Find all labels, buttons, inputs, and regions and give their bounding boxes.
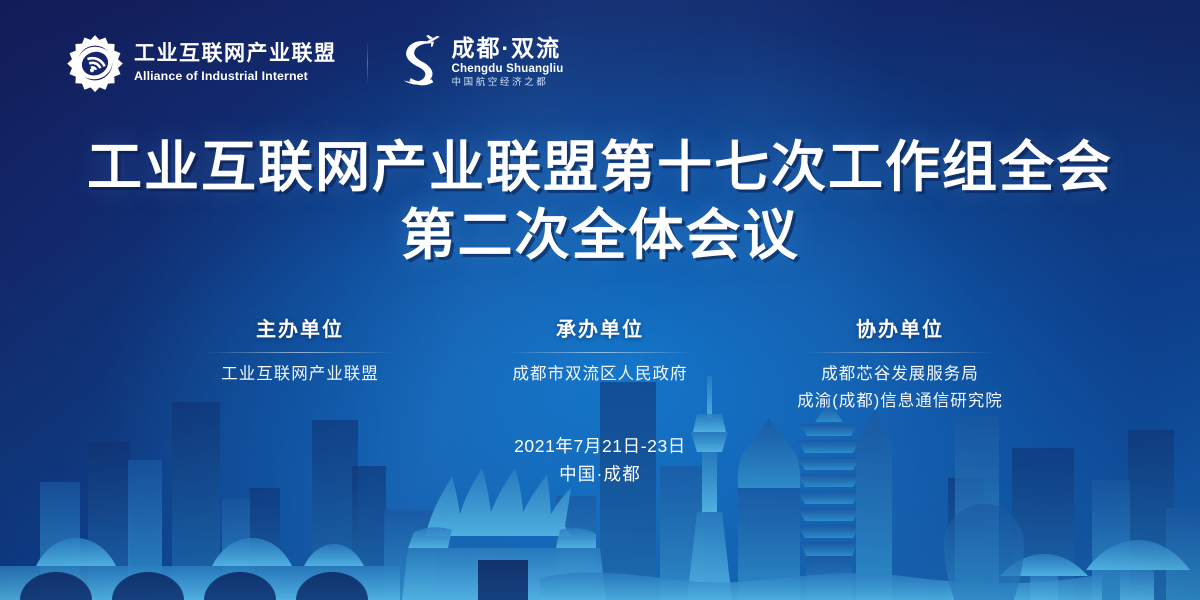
conference-banner: 工业互联网产业联盟 Alliance of Industrial Interne… [0, 0, 1200, 600]
organizer-name: 工业互联网产业联盟 [150, 361, 450, 388]
organizer-name: 成都芯谷发展服务局 [750, 361, 1050, 388]
event-title-line-1: 工业互联网产业联盟第十七次工作组全会 [0, 133, 1200, 201]
organizers-section: 主办单位 工业互联网产业联盟 承办单位 成都市双流区人民政府 协办单位 成都芯谷… [0, 318, 1200, 414]
organizer-divider [807, 352, 993, 353]
organizer-divider [507, 352, 693, 353]
event-title-line-2: 第二次全体会议 [0, 201, 1200, 269]
event-datetime-block: 2021年7月21日-23日 中国·成都 [0, 432, 1200, 489]
shuangliu-logo-name-en: Chengdu Shuangliu [452, 62, 564, 77]
organizer-column-coorganizer: 协办单位 成都芯谷发展服务局 成渝(成都)信息通信研究院 [750, 318, 1050, 414]
alliance-logo: 工业互联网产业联盟 Alliance of Industrial Interne… [66, 34, 337, 92]
organizer-column-undertaker: 承办单位 成都市双流区人民政府 [450, 318, 750, 414]
event-date: 2021年7月21日-23日 [0, 432, 1200, 460]
logo-bar: 工业互联网产业联盟 Alliance of Industrial Interne… [66, 34, 564, 92]
alliance-logo-name-en: Alliance of Industrial Internet [134, 69, 337, 84]
organizer-divider [207, 352, 393, 353]
tree-cluster-silhouette [944, 494, 1200, 600]
organizer-role-label: 协办单位 [750, 318, 1050, 343]
organizer-role-label: 承办单位 [450, 318, 750, 343]
shuangliu-logo-tagline: 中国航空经济之都 [452, 76, 564, 89]
event-title: 工业互联网产业联盟第十七次工作组全会 第二次全体会议 [0, 133, 1200, 269]
event-place: 中国·成都 [0, 460, 1200, 488]
logo-separator [367, 41, 368, 85]
organizer-name: 成都市双流区人民政府 [450, 361, 750, 388]
foreground-wave [540, 572, 1102, 600]
gear-wifi-logo-icon [66, 34, 124, 92]
pavilion-silhouette [1000, 540, 1190, 600]
alliance-logo-name-cn: 工业互联网产业联盟 [134, 42, 337, 66]
organizer-column-host: 主办单位 工业互联网产业联盟 [150, 318, 450, 414]
shuangliu-logo: 成都·双流 Chengdu Shuangliu 中国航空经济之都 [398, 34, 564, 92]
organizer-role-label: 主办单位 [150, 318, 450, 343]
shuangliu-logo-name-cn: 成都·双流 [452, 36, 564, 61]
swoosh-airplane-logo-icon [398, 34, 442, 92]
organizer-name: 成渝(成都)信息通信研究院 [750, 388, 1050, 415]
bridge-silhouette [0, 538, 400, 600]
